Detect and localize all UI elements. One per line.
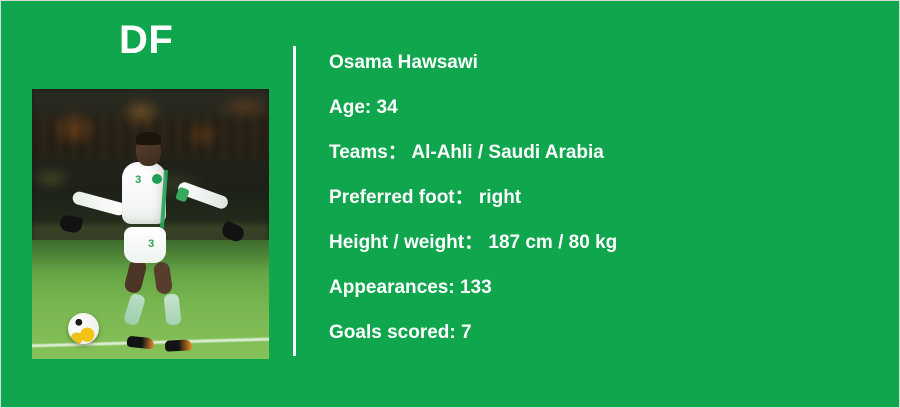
photo-player-front-sock — [163, 293, 181, 325]
detail-appearances: Appearances: 133 — [329, 274, 879, 319]
detail-preferred-foot: Preferred foot： right — [329, 184, 879, 229]
photo-jersey-badge — [152, 174, 162, 184]
player-details-list: Osama Hawsawi Age: 34 Teams： Al-Ahli / S… — [329, 49, 879, 364]
detail-goals-scored: Goals scored: 7 — [329, 319, 879, 364]
player-position-label: DF — [119, 20, 173, 60]
player-name: Osama Hawsawi — [329, 49, 879, 94]
photo-player-shorts — [124, 227, 166, 263]
vertical-divider — [293, 46, 296, 356]
photo-football — [68, 313, 99, 344]
photo-jersey-number: 3 — [135, 174, 141, 186]
detail-age: Age: 34 — [329, 94, 879, 139]
photo-player-jersey — [122, 162, 166, 224]
photo-player-hair — [136, 132, 161, 145]
player-profile-card: DF 3 3 Osama Hawsawi Age: 34 Teams： Al-A… — [0, 0, 900, 408]
player-photo: 3 3 — [32, 89, 269, 359]
detail-height-weight: Height / weight： 187 cm / 80 kg — [329, 229, 879, 274]
detail-teams: Teams： Al-Ahli / Saudi Arabia — [329, 139, 879, 184]
photo-shorts-number: 3 — [148, 238, 154, 250]
photo-player-front-boot — [164, 339, 192, 351]
